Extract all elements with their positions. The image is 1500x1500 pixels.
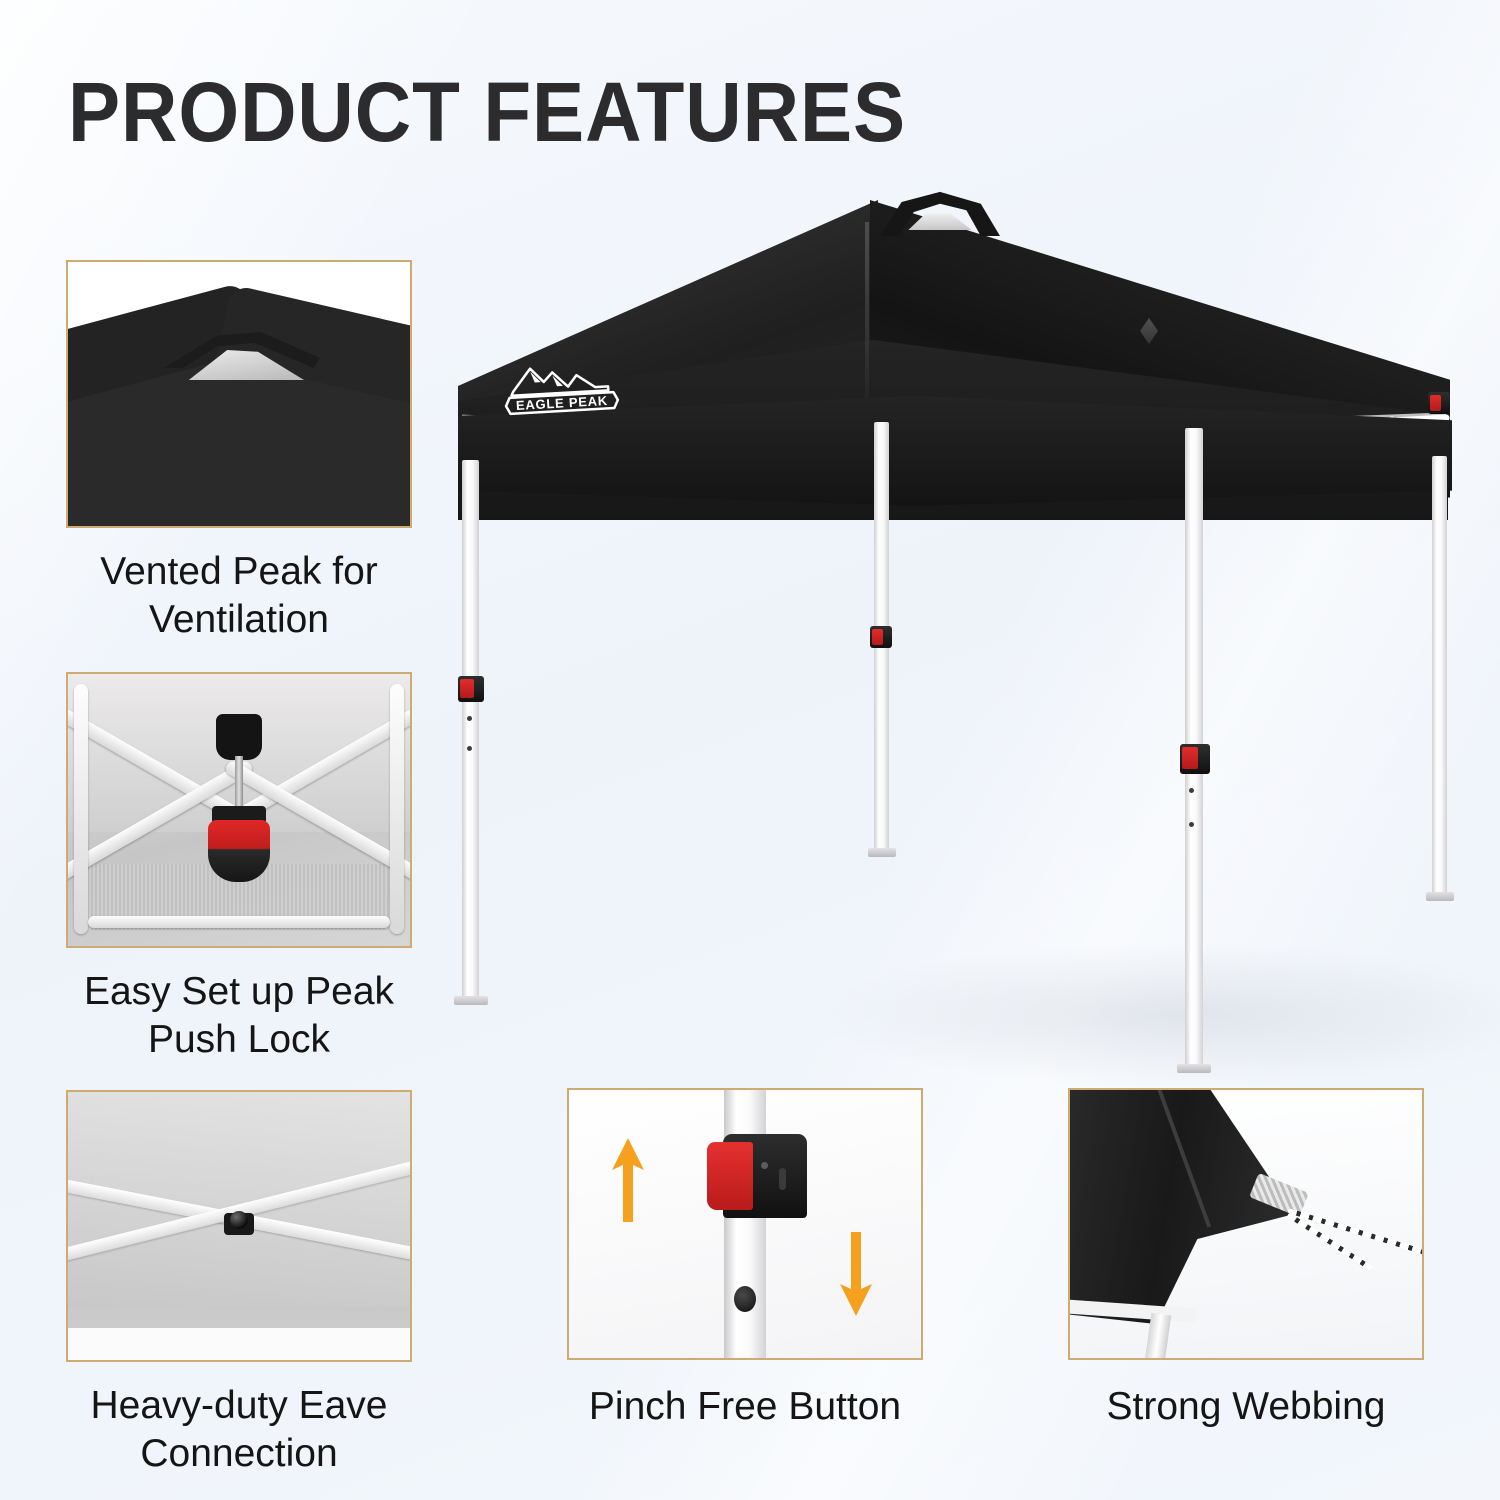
eave-bolt-icon (230, 1211, 248, 1229)
leg-pinhole (467, 716, 472, 721)
canopy-foot-back-left (868, 848, 896, 857)
infographic-root: PRODUCT FEATURES (0, 0, 1500, 1500)
caption-line-2: Connection (91, 1430, 388, 1478)
canopy-foot-front-left (454, 996, 488, 1005)
push-lock-knob-icon (208, 820, 270, 882)
caption-line-1: Easy Set up Peak (84, 968, 394, 1016)
leg-slider-front-right (1428, 392, 1450, 414)
feature-image-strong-webbing (1068, 1088, 1424, 1360)
leg-pinhole (467, 746, 472, 751)
caption-line-1: Strong Webbing (1107, 1383, 1386, 1431)
leg-pole (724, 1088, 766, 1360)
feature-caption-strong-webbing: Strong Webbing (1107, 1383, 1386, 1431)
vented-peak-handle-icon (880, 190, 1000, 236)
red-push-button-icon (707, 1142, 753, 1210)
canopy-foot-front-right (1426, 892, 1454, 901)
hero-canopy-illustration: EAGLE PEAK (440, 160, 1480, 1060)
arrow-down-icon (839, 1230, 873, 1318)
leg-pinhole (1189, 788, 1194, 793)
canopy-leg-front-left (462, 460, 479, 1000)
page-title: PRODUCT FEATURES (68, 66, 906, 158)
leg-slider-back-left (870, 626, 892, 648)
feature-caption-push-lock: Easy Set up Peak Push Lock (84, 968, 394, 1064)
leg-slider-back-right (1180, 744, 1210, 774)
caption-line-2: Ventilation (100, 596, 378, 644)
feature-caption-vented-peak: Vented Peak for Ventilation (100, 548, 378, 644)
caption-line-1: Pinch Free Button (589, 1383, 901, 1431)
feature-image-eave-connection (66, 1090, 412, 1362)
canopy-roof-ridge (865, 222, 869, 422)
canopy-foot-back-right (1177, 1064, 1211, 1073)
feature-image-vented-peak (66, 260, 412, 528)
arrow-up-icon (611, 1136, 645, 1224)
canopy-leg-front-right (1432, 456, 1447, 896)
leg-adjust-hole (734, 1286, 756, 1312)
eagle-peak-logo: EAGLE PEAK (501, 355, 622, 417)
leg-pinhole (1189, 822, 1194, 827)
ground-shadow (800, 940, 1500, 1090)
caption-line-1: Vented Peak for (100, 548, 378, 596)
feature-image-push-lock (66, 672, 412, 948)
feature-caption-eave-connection: Heavy-duty Eave Connection (91, 1382, 388, 1478)
feature-image-pinch-free-button (567, 1088, 923, 1360)
caption-line-1: Heavy-duty Eave (91, 1382, 388, 1430)
push-lock-hub-icon (216, 714, 262, 760)
leg-slider-front-left (458, 676, 484, 702)
feature-caption-pinch-free-button: Pinch Free Button (589, 1383, 901, 1431)
caption-line-2: Push Lock (84, 1016, 394, 1064)
